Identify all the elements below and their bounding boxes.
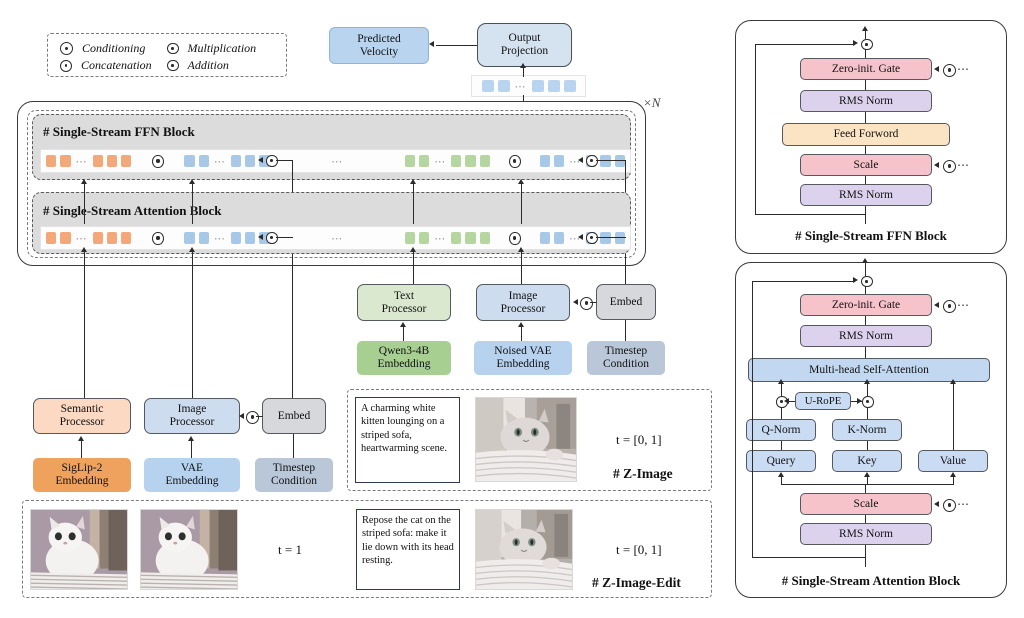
token-square — [480, 155, 490, 167]
feed-line-text — [413, 252, 414, 286]
attn-rms-norm-bottom-label: RMS Norm — [839, 528, 893, 541]
token-ellipsis: ⋯ — [214, 155, 226, 168]
flow-line-a3 — [413, 184, 414, 224]
line-timestep-to-embed-left — [293, 434, 294, 458]
attn-skip-bottom — [752, 557, 865, 558]
repeat-marker: ×N — [643, 95, 660, 111]
token-square — [107, 232, 117, 244]
token-square — [482, 80, 494, 92]
ffn-output-arrow — [862, 26, 868, 31]
token-ellipsis: ⋯ — [515, 80, 527, 93]
token-ellipsis: ⋯ — [331, 232, 343, 245]
ffn-spine-2 — [865, 146, 866, 154]
multiplication-symbol — [266, 232, 278, 244]
attn-bus-to-query — [781, 477, 782, 485]
siglip-embedding-box: SigLip-2 Embedding — [33, 458, 131, 492]
text-processor-line1: Text — [394, 290, 414, 303]
timestep-right-box: Timestep Condition — [587, 341, 665, 375]
token-square — [600, 155, 610, 167]
predicted-velocity-line2: Velocity — [360, 46, 398, 59]
z-image-t-label: t = [0, 1] — [616, 432, 662, 448]
attn-spine-selfattn-rms — [865, 347, 866, 358]
noised-vae-line2: Embedding — [496, 358, 549, 371]
flow-arrow-a3 — [410, 179, 416, 184]
conditioning-symbol — [60, 42, 73, 55]
attn-scale: Scale — [800, 493, 932, 515]
token-square — [184, 155, 194, 167]
attn-q-norm: Q-Norm — [746, 419, 816, 441]
feed-line-image-right — [521, 252, 522, 286]
attn-spine-scale — [865, 515, 866, 523]
attn-spine-rms-gate — [865, 316, 866, 325]
conditioning-symbol — [943, 499, 956, 512]
attn-skip-left — [752, 281, 753, 558]
conditioning-symbol — [246, 411, 259, 424]
attn-value: Value — [918, 450, 988, 472]
attn-query-label: Query — [767, 455, 796, 468]
attn-left-inject-line — [276, 237, 293, 238]
token-square — [405, 155, 415, 167]
ffn-zero-init-gate: Zero-init. Gate — [800, 58, 932, 80]
ffn-right-inject-head — [578, 157, 583, 163]
attn-skip-arrow — [853, 277, 858, 283]
z-image-output-photo — [475, 397, 577, 482]
token-square — [60, 232, 70, 244]
token-square — [231, 155, 241, 167]
siglip-line1: SigLip-2 — [62, 462, 103, 475]
attn-right-inject-head — [578, 234, 583, 240]
token-square — [405, 232, 415, 244]
addition-symbol — [167, 60, 179, 72]
image-processor-left-box: Image Processor — [144, 398, 240, 434]
token-square — [46, 232, 56, 244]
multiplication-symbol — [862, 396, 874, 408]
arrow-siglip-to-semantic — [78, 436, 84, 441]
token-square — [199, 155, 209, 167]
multiplication-symbol — [586, 155, 598, 167]
conditioning-symbol — [943, 64, 956, 77]
attn-q-norm-label: Q-Norm — [762, 424, 801, 437]
addition-symbol — [861, 39, 873, 51]
attn-urope-label: U-RoPE — [805, 395, 842, 407]
output-projection-line1: Output — [509, 32, 541, 45]
ffn-block-title: # Single-Stream FFN Block — [43, 124, 195, 140]
qwen-line2: Embedding — [377, 358, 430, 371]
token-square — [93, 232, 103, 244]
token-square — [419, 155, 429, 167]
image-processor-right-line2: Processor — [501, 303, 546, 316]
predicted-velocity-line1: Predicted — [357, 33, 400, 46]
qwen-embedding-box: Qwen3-4B Embedding — [357, 341, 451, 375]
token-ellipsis: ⋯ — [331, 155, 343, 168]
z-image-edit-prompt: Repose the cat on the striped sofa: make… — [356, 509, 460, 590]
token-square — [121, 232, 131, 244]
ffn-rms-norm-top: RMS Norm — [800, 90, 932, 112]
output-token-strip: ⋯ — [471, 75, 586, 97]
ffn-spine-out — [865, 31, 866, 39]
attn-arrow-to-value — [950, 472, 956, 477]
conditioning-symbol — [152, 155, 163, 168]
ffn-right-inject-line — [596, 160, 626, 161]
ffn-spine-4 — [865, 80, 866, 90]
attn-key: Key — [832, 450, 902, 472]
attn-left-inject-head — [258, 234, 263, 240]
flow-line-a2 — [192, 184, 193, 224]
ffn-left-inject-line — [276, 160, 293, 161]
token-square — [245, 155, 255, 167]
conditioning-symbol — [509, 232, 520, 245]
embed-right-label: Embed — [610, 296, 643, 309]
attn-scale-label: Scale — [854, 498, 879, 511]
vae-line1: VAE — [181, 462, 203, 475]
qwen-line1: Qwen3-4B — [379, 345, 429, 358]
legend-label-conditioning: Conditioning — [82, 41, 145, 56]
attn-rope-q-arrow — [784, 398, 789, 404]
image-processor-right-box: Image Processor — [476, 284, 570, 321]
attn-arrow-to-key — [864, 472, 870, 477]
attn-skip-top — [752, 281, 855, 282]
attn-k-norm: K-Norm — [832, 419, 902, 441]
arrow-strip-to-outproj-head — [520, 63, 526, 68]
token-square — [46, 155, 56, 167]
token-square — [107, 155, 117, 167]
ffn-scale-label: Scale — [854, 159, 879, 172]
line-embed-to-imageproc-left — [256, 416, 263, 417]
timestep-left-line2: Condition — [271, 475, 317, 488]
embed-left-label: Embed — [278, 410, 311, 423]
token-square — [554, 155, 564, 167]
concatenation-symbol — [60, 60, 72, 72]
z-image-edit-input-photo-2 — [140, 509, 238, 590]
ffn-scale: Scale — [800, 154, 932, 176]
image-processor-left-line1: Image — [178, 403, 207, 416]
attn-bus-to-key — [867, 477, 868, 485]
timestep-right-line2: Condition — [603, 358, 649, 371]
flow-arrow-a1 — [81, 179, 87, 184]
vae-line2: Embedding — [165, 475, 218, 488]
ffn-gate-cond-ellipsis: ⋯ — [957, 62, 970, 76]
token-ellipsis: ⋯ — [434, 155, 446, 168]
attn-output-arrow — [862, 258, 868, 263]
attn-gate-cond-arrow — [934, 302, 939, 308]
attn-gate-cond-ellipsis: ⋯ — [957, 298, 970, 312]
token-square — [540, 232, 550, 244]
conditioning-symbol — [509, 155, 520, 168]
token-square — [419, 232, 429, 244]
z-image-edit-input-photo-1 — [30, 509, 128, 590]
noised-vae-line1: Noised VAE — [494, 345, 551, 358]
ffn-rms-norm-bottom-label: RMS Norm — [839, 189, 893, 202]
ffn-skip-arrow — [853, 40, 858, 46]
output-projection-line2: Projection — [501, 45, 548, 58]
attn-bus-to-value — [953, 477, 954, 485]
feed-arrow-image-left — [189, 247, 195, 252]
token-square — [600, 232, 610, 244]
feed-arrow-text — [410, 247, 416, 252]
attn-scale-to-bus — [865, 484, 866, 493]
multiplication-symbol — [167, 43, 179, 55]
z-image-edit-output-t-label: t = [0, 1] — [616, 542, 662, 558]
ffn-skip-top — [755, 44, 855, 45]
arrow-noisedvae-to-imageproc — [518, 322, 524, 327]
attn-zero-init-gate: Zero-init. Gate — [800, 294, 932, 316]
attn-right-inject-line — [596, 237, 626, 238]
attn-key-label: Key — [857, 455, 876, 468]
token-square — [93, 155, 103, 167]
legend-label-addition: Addition — [188, 58, 229, 73]
predicted-velocity-box: Predicted Velocity — [329, 27, 429, 64]
ffn-spine-3 — [865, 112, 866, 123]
flow-line-a4 — [521, 184, 522, 224]
ffn-scale-cond-arrow — [934, 162, 939, 168]
feed-arrow-image-right — [518, 247, 524, 252]
attn-value-label: Value — [940, 455, 966, 468]
token-square — [548, 80, 560, 92]
token-ellipsis: ⋯ — [76, 155, 88, 168]
arrow-vae-to-image-left — [188, 436, 194, 441]
ffn-gate-cond-arrow — [934, 66, 939, 72]
token-ellipsis: ⋯ — [76, 232, 88, 245]
conditioning-symbol — [580, 297, 593, 310]
attn-query-to-qnorm — [781, 441, 782, 450]
line-noisedvae-to-imageproc — [521, 327, 522, 341]
token-square — [532, 80, 544, 92]
ffn-skip-left — [755, 44, 756, 215]
attention-token-strip: ⋯ ⋯ ⋯ ⋯ ⋯ — [40, 226, 631, 250]
attn-qmul-to-selfattn — [781, 384, 782, 396]
line-embed-to-imageproc-right — [590, 302, 597, 303]
ffn-token-strip: ⋯ ⋯ ⋯ ⋯ ⋯ — [40, 149, 631, 173]
ffn-skip-bottom — [755, 214, 865, 215]
token-square — [498, 80, 510, 92]
attn-rms-norm-top: RMS Norm — [800, 325, 932, 347]
attn-arrow-to-query — [778, 472, 784, 477]
attn-urope: U-RoPE — [795, 392, 851, 410]
token-square — [121, 155, 131, 167]
token-square — [451, 232, 461, 244]
attn-key-to-knorm — [867, 441, 868, 450]
flow-arrow-a2 — [189, 179, 195, 184]
text-processor-line2: Processor — [382, 303, 427, 316]
arrow-strip-to-outproj-line — [523, 68, 524, 77]
feed-line-image-left — [192, 252, 193, 400]
legend: Conditioning Multiplication Concatenatio… — [47, 33, 287, 77]
embed-left-box: Embed — [262, 398, 326, 434]
token-square — [245, 232, 255, 244]
token-square — [231, 232, 241, 244]
token-ellipsis: ⋯ — [214, 232, 226, 245]
attn-qnorm-to-rope — [781, 406, 782, 419]
z-image-edit-input-t-label: t = 1 — [278, 542, 302, 558]
token-square — [199, 232, 209, 244]
flow-line-a1 — [84, 184, 85, 224]
image-processor-right-line1: Image — [509, 290, 538, 303]
attn-kmul-arrow — [864, 379, 870, 384]
multiplication-symbol — [586, 232, 598, 244]
token-square — [564, 80, 576, 92]
feed-line-semantic — [84, 252, 85, 400]
semantic-processor-line2: Processor — [60, 416, 105, 429]
multiplication-symbol — [266, 155, 278, 167]
ffn-zero-init-gate-label: Zero-init. Gate — [832, 63, 900, 76]
attn-scale-cond-arrow — [934, 501, 939, 507]
arrow-outproj-to-velocity-head — [429, 41, 434, 47]
semantic-processor-line1: Semantic — [61, 403, 104, 416]
attn-value-arrow — [950, 379, 956, 384]
z-image-corner-label: # Z-Image — [613, 466, 673, 482]
ffn-left-inject-head — [258, 157, 263, 163]
token-square — [184, 232, 194, 244]
conditioning-symbol — [943, 300, 956, 313]
ffn-scale-cond-ellipsis: ⋯ — [957, 158, 970, 172]
conditioning-symbol — [152, 232, 163, 245]
token-square — [451, 155, 461, 167]
arrow-embed-to-imageproc-left — [239, 413, 244, 419]
siglip-line2: Embedding — [55, 475, 108, 488]
timestep-right-line1: Timestep — [605, 345, 647, 358]
line-vae-to-image-left — [191, 441, 192, 458]
line-timestep-to-embed-right — [625, 320, 626, 341]
z-image-prompt: A charming white kitten lounging on a st… — [355, 397, 460, 483]
token-ellipsis: ⋯ — [434, 232, 446, 245]
line-qwen-to-text — [403, 327, 404, 341]
ffn-detail-panel-title: # Single-Stream FFN Block — [735, 228, 1007, 244]
arrow-qwen-to-text — [400, 322, 406, 327]
ffn-rms-norm-bottom: RMS Norm — [800, 184, 932, 206]
flow-arrow-a4 — [518, 179, 524, 184]
ffn-spine-1 — [865, 176, 866, 184]
attn-rms-norm-top-label: RMS Norm — [839, 330, 893, 343]
ffn-feed-forward: Feed Forword — [782, 123, 950, 146]
token-square — [615, 155, 625, 167]
ffn-feed-forward-label: Feed Forword — [834, 128, 899, 141]
arrow-outproj-to-velocity-line — [436, 45, 477, 46]
vae-embedding-box: VAE Embedding — [144, 458, 240, 492]
attn-qmul-arrow — [778, 379, 784, 384]
token-square — [540, 155, 550, 167]
attn-self-attention-label: Multi-head Self-Attention — [809, 364, 929, 377]
z-image-edit-corner-label: # Z-Image-Edit — [592, 575, 681, 591]
attn-k-norm-label: K-Norm — [848, 424, 887, 437]
noised-vae-box: Noised VAE Embedding — [474, 341, 572, 375]
token-square — [480, 232, 490, 244]
token-square — [465, 155, 475, 167]
ffn-rms-norm-top-label: RMS Norm — [839, 95, 893, 108]
text-processor-box: Text Processor — [357, 284, 451, 321]
token-square — [615, 232, 625, 244]
arrow-embed-to-imageproc-right — [573, 299, 578, 305]
attention-block-title: # Single-Stream Attention Block — [43, 203, 222, 219]
attn-query: Query — [746, 450, 816, 472]
feed-arrow-semantic — [81, 247, 87, 252]
attn-spine-bottom — [865, 545, 866, 567]
legend-label-concatenation: Concatenation — [81, 58, 152, 73]
legend-label-multiplication: Multiplication — [188, 41, 257, 56]
attn-value-to-selfattn — [953, 384, 954, 450]
attention-detail-panel-title: # Single-Stream Attention Block — [735, 573, 1007, 589]
attn-kmul-to-selfattn — [867, 384, 868, 396]
z-image-edit-output-photo — [475, 509, 573, 590]
line-siglip-to-semantic — [81, 441, 82, 458]
output-projection-box: Output Projection — [477, 23, 572, 67]
token-square — [60, 155, 70, 167]
ffn-spine-bottom — [865, 206, 866, 224]
attn-spine-out — [865, 262, 866, 276]
timestep-left-line1: Timestep — [273, 462, 315, 475]
attn-rope-k-arrow — [857, 398, 862, 404]
embed-right-box: Embed — [596, 284, 656, 320]
attn-rms-norm-bottom: RMS Norm — [800, 523, 932, 545]
attn-zero-init-gate-label: Zero-init. Gate — [832, 299, 900, 312]
conditioning-symbol — [943, 160, 956, 173]
token-square — [554, 232, 564, 244]
attn-knorm-to-rope — [867, 406, 868, 419]
token-square — [465, 232, 475, 244]
addition-symbol — [861, 276, 873, 288]
timestep-left-box: Timestep Condition — [255, 458, 333, 492]
image-processor-left-line2: Processor — [170, 416, 215, 429]
semantic-processor-box: Semantic Processor — [33, 398, 131, 434]
attn-scale-cond-ellipsis: ⋯ — [957, 497, 970, 511]
